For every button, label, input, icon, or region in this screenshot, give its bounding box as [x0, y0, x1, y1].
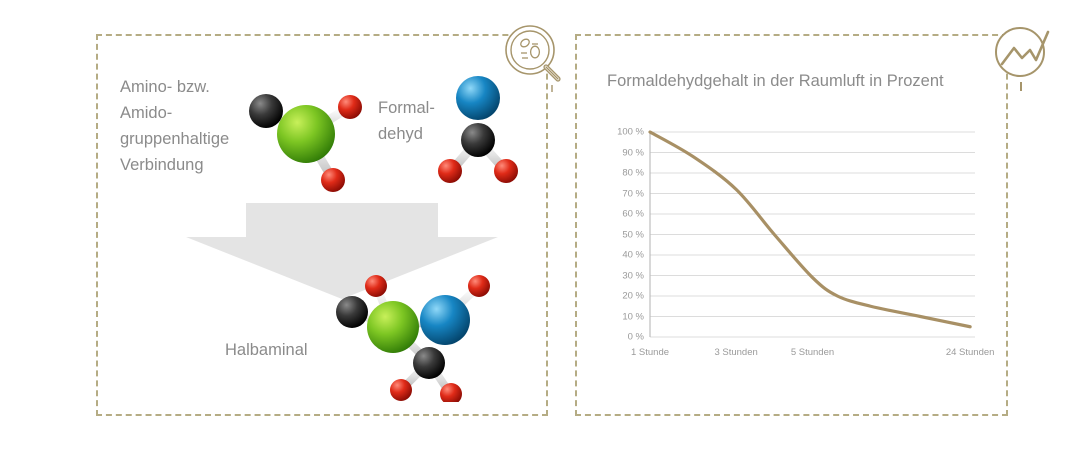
y-axis-tick-label: 100 % — [598, 127, 644, 138]
y-axis-tick-label: 90 % — [598, 147, 644, 158]
trend-chart-icon — [988, 22, 1060, 94]
chart-title: Formaldehydgehalt in der Raumluft in Pro… — [607, 72, 944, 91]
y-axis-tick-label: 70 % — [598, 188, 644, 199]
y-axis-tick-label: 10 % — [598, 311, 644, 322]
y-axis-tick-label: 20 % — [598, 291, 644, 302]
y-axis-tick-label: 50 % — [598, 229, 644, 240]
formaldehyde-molecule — [432, 70, 524, 190]
y-axis-tick-label: 60 % — [598, 209, 644, 220]
x-axis-tick-label: 3 Stunden — [714, 347, 757, 358]
x-axis-tick-label: 1 Stunde — [631, 347, 669, 358]
line-chart: 100 %90 %80 %70 %60 %50 %40 %30 %20 %10 … — [598, 120, 988, 370]
x-axis-tick-label: 5 Stunden — [791, 347, 834, 358]
halbaminal-molecule — [325, 272, 505, 402]
y-axis-tick-label: 80 % — [598, 168, 644, 179]
y-axis-tick-label: 40 % — [598, 250, 644, 261]
y-axis-tick-label: 0 % — [598, 332, 644, 343]
y-axis-tick-label: 30 % — [598, 270, 644, 281]
x-axis-tick-label: 24 Stunden — [946, 347, 995, 358]
halbaminal-label: Halbaminal — [225, 337, 308, 363]
amino-compound-molecule — [236, 82, 376, 197]
